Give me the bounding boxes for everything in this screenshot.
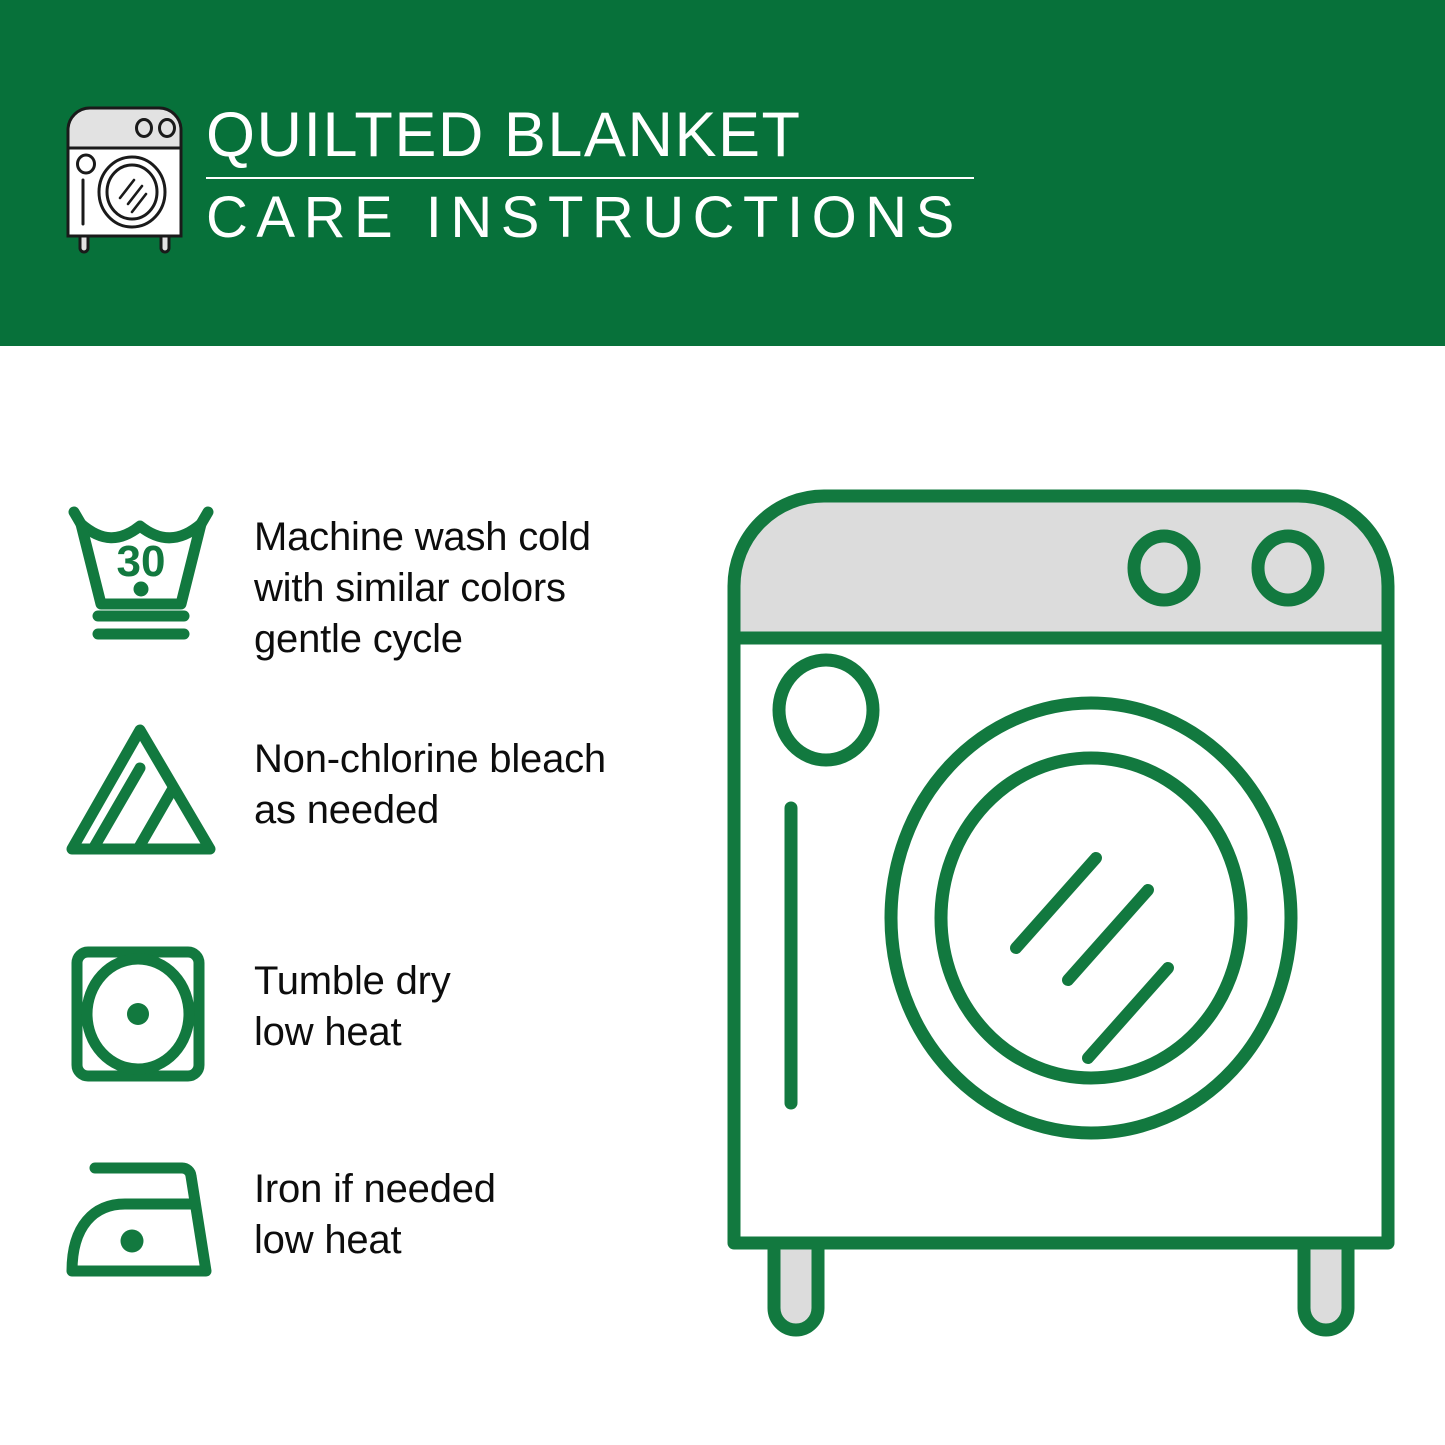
care-row: Iron if needed low heat (0, 1146, 700, 1296)
machine-leg-left (774, 1243, 818, 1330)
care-instructions-page: QUILTED BLANKET CARE INSTRUCTIONS 30 (0, 0, 1445, 1445)
drum-inner-circle (941, 758, 1241, 1078)
non-chlorine-bleach-triangle-icon (62, 716, 232, 866)
care-row: 30 Machine wash cold with similar colors… (0, 494, 700, 664)
care-text-line: low heat (254, 1215, 496, 1266)
page-title: QUILTED BLANKET (206, 103, 996, 167)
header-divider (206, 177, 974, 179)
care-text-line: Non-chlorine bleach (254, 734, 606, 785)
care-row: Non-chlorine bleach as needed (0, 716, 700, 866)
care-text-line: as needed (254, 785, 606, 836)
wash-tub-30-icon: 30 (62, 494, 232, 644)
drum-motion-lines (1016, 858, 1168, 1058)
care-text-line: low heat (254, 1007, 451, 1058)
wash-temperature-value: 30 (117, 537, 166, 586)
detergent-dispenser-circle (779, 660, 873, 760)
washing-machine-icon (62, 100, 187, 255)
care-text-line: Tumble dry (254, 956, 451, 1007)
tumble-dry-low-icon (62, 938, 232, 1088)
page-subtitle: CARE INSTRUCTIONS (206, 188, 996, 249)
header-text-block: QUILTED BLANKET CARE INSTRUCTIONS (206, 103, 996, 249)
control-panel-fill (734, 496, 1388, 638)
machine-leg-right (1304, 1243, 1348, 1330)
care-text: Machine wash cold with similar colors ge… (254, 494, 591, 664)
drum-outer-circle (891, 703, 1291, 1133)
care-text: Tumble dry low heat (254, 938, 451, 1058)
care-text-line: gentle cycle (254, 614, 591, 665)
care-row: Tumble dry low heat (0, 938, 700, 1088)
front-load-washing-machine-illustration (716, 478, 1406, 1358)
care-text-line: with similar colors (254, 563, 591, 614)
care-text: Non-chlorine bleach as needed (254, 716, 606, 836)
care-text: Iron if needed low heat (254, 1146, 496, 1266)
iron-low-heat-icon (62, 1146, 232, 1296)
care-instruction-list: 30 Machine wash cold with similar colors… (0, 346, 700, 1445)
header-band: QUILTED BLANKET CARE INSTRUCTIONS (0, 0, 1445, 346)
care-text-line: Machine wash cold (254, 512, 591, 563)
care-text-line: Iron if needed (254, 1164, 496, 1215)
